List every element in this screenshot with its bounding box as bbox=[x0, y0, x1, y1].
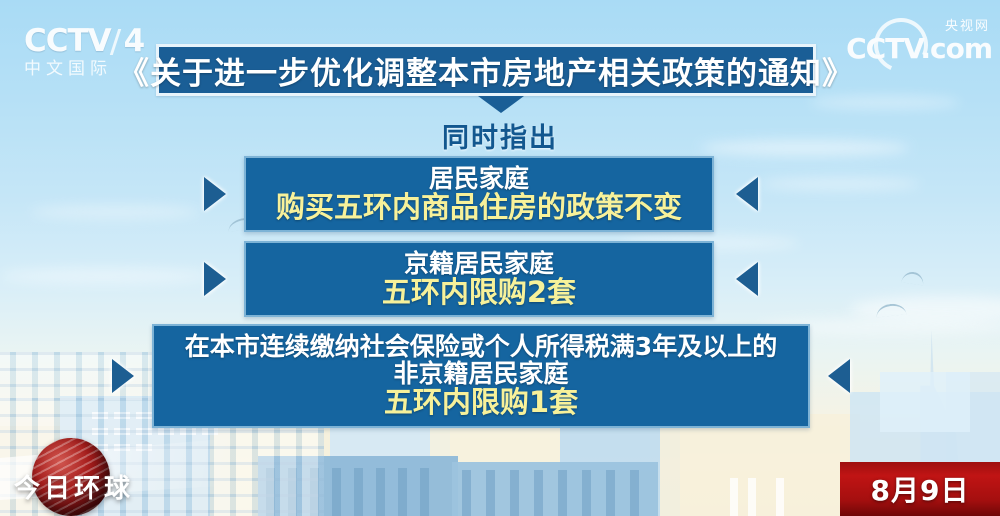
arrow-left-icon bbox=[736, 177, 758, 211]
policy-line: 在本市连续缴纳社会保险或个人所得税满3年及以上的 bbox=[185, 333, 777, 360]
bird-icon bbox=[901, 271, 924, 286]
policy-line-highlight: 五环内限购2套 bbox=[382, 277, 576, 308]
headline-banner-fill: 《关于进一步优化调整本市房地产相关政策的通知》 bbox=[159, 47, 813, 93]
page-title: 《关于进一步优化调整本市房地产相关政策的通知》 bbox=[118, 48, 854, 93]
cloud-shape bbox=[30, 205, 200, 219]
policy-callout-box: 居民家庭 购买五环内商品住房的政策不变 bbox=[244, 156, 714, 232]
broadcast-screen: CCTV4 中文国际 央视网 CCTV.com 《关于进一步优化调整本市房地产相… bbox=[0, 0, 1000, 516]
cloud-shape bbox=[0, 268, 210, 284]
program-name: 今日环球 bbox=[14, 468, 194, 505]
cloud-shape bbox=[760, 178, 920, 190]
policy-line: 居民家庭 bbox=[429, 165, 529, 192]
cctv-logo-text: CCTV bbox=[24, 23, 111, 59]
arrow-right-icon bbox=[204, 262, 226, 296]
arrow-left-icon bbox=[736, 262, 758, 296]
policy-line-highlight: 五环内限购1套 bbox=[384, 387, 578, 418]
policy-callout-box: 京籍居民家庭 五环内限购2套 bbox=[244, 241, 714, 317]
subtitle-text: 同时指出 bbox=[0, 116, 1000, 155]
policy-line: 京籍居民家庭 bbox=[404, 250, 554, 277]
arrow-right-icon bbox=[112, 359, 134, 393]
headline-banner: 《关于进一步优化调整本市房地产相关政策的通知》 bbox=[156, 44, 816, 96]
cloud-shape bbox=[810, 96, 960, 109]
chevron-down-icon bbox=[478, 96, 524, 113]
policy-line: 非京籍居民家庭 bbox=[393, 360, 568, 387]
arrow-left-icon bbox=[828, 359, 850, 393]
date-badge-label: 8月9日 bbox=[871, 469, 970, 509]
policy-callout-box: 在本市连续缴纳社会保险或个人所得税满3年及以上的 非京籍居民家庭 五环内限购1套 bbox=[152, 324, 810, 428]
watermark-domain: .com bbox=[920, 32, 992, 65]
date-badge: 8月9日 bbox=[840, 462, 1000, 516]
policy-line-highlight: 购买五环内商品住房的政策不变 bbox=[276, 192, 682, 223]
program-logo: 今日环球 bbox=[8, 438, 198, 516]
arrow-right-icon bbox=[204, 177, 226, 211]
